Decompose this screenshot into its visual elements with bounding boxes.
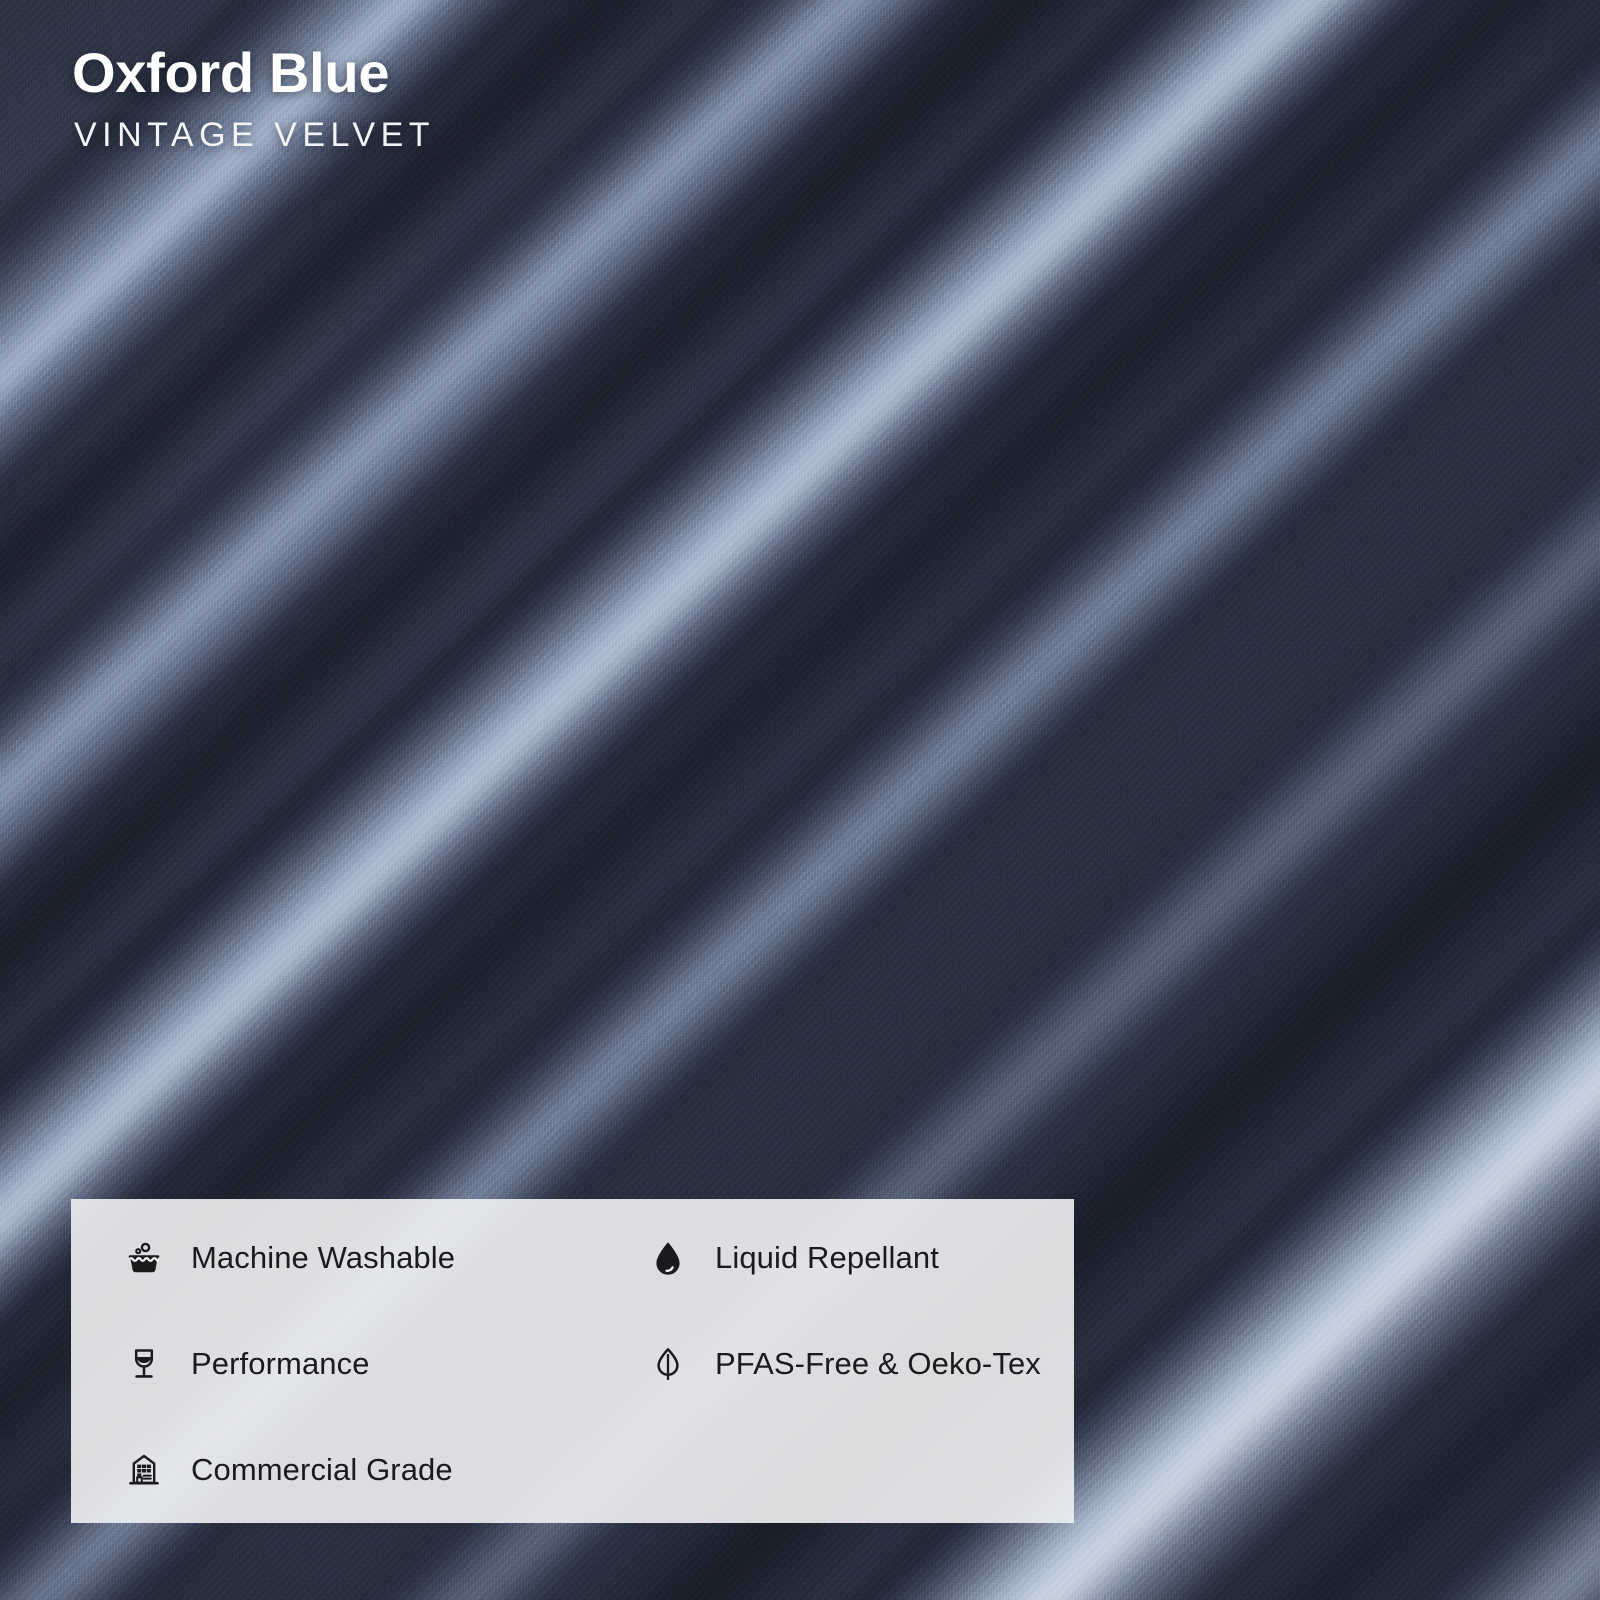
wine-glass-icon <box>121 1341 167 1387</box>
feature-label: Machine Washable <box>191 1240 455 1276</box>
page-title: Oxford Blue <box>72 44 435 102</box>
product-subtitle: VINTAGE VELVET <box>74 116 435 155</box>
leaf-icon <box>645 1341 691 1387</box>
title-block: Oxford Blue VINTAGE VELVET <box>72 44 435 155</box>
wash-tub-icon <box>121 1235 167 1281</box>
product-swatch-image: Oxford Blue VINTAGE VELVET Machine Washa… <box>0 0 1600 1600</box>
building-icon <box>121 1447 167 1493</box>
feature-commercial-grade: Commercial Grade <box>71 1417 629 1523</box>
feature-label: PFAS-Free & Oeko-Tex <box>715 1346 1041 1382</box>
feature-label: Performance <box>191 1346 370 1382</box>
feature-performance: Performance <box>71 1311 629 1417</box>
features-panel: Machine Washable Liquid Repellant <box>71 1199 1074 1523</box>
feature-liquid-repellant: Liquid Repellant <box>629 1205 1074 1311</box>
water-drop-icon <box>645 1235 691 1281</box>
feature-pfas-free-oeko-tex: PFAS-Free & Oeko-Tex <box>629 1311 1074 1417</box>
feature-machine-washable: Machine Washable <box>71 1205 629 1311</box>
feature-label: Liquid Repellant <box>715 1240 939 1276</box>
feature-label: Commercial Grade <box>191 1452 453 1488</box>
